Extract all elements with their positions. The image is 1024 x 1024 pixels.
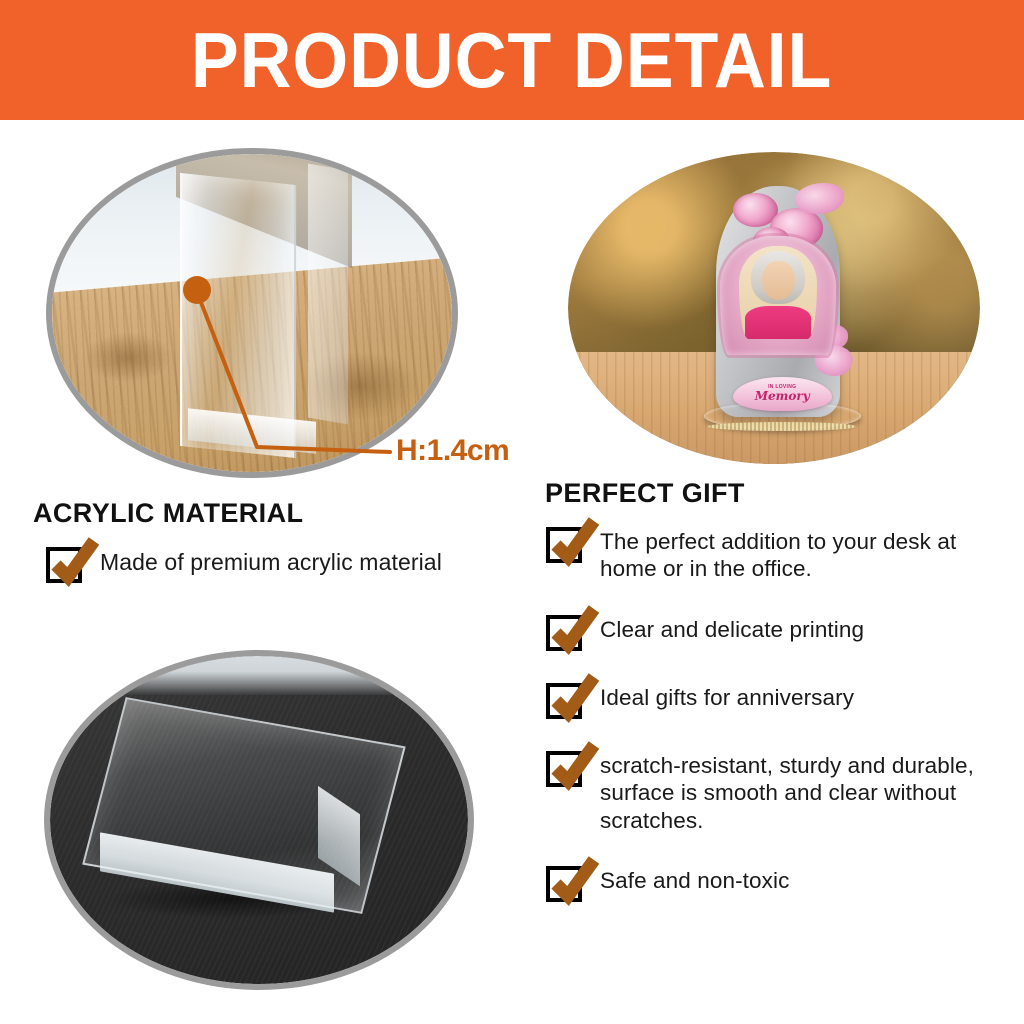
- acrylic-edge-photo-inner: [52, 154, 452, 472]
- portrait-shirt: [745, 306, 811, 340]
- list-item-label: Made of premium acrylic material: [100, 545, 442, 576]
- section-heading-acrylic-material: ACRYLIC MATERIAL: [33, 498, 303, 529]
- checkmark-icon: [548, 605, 600, 657]
- acrylic-side-face: [308, 163, 348, 424]
- portrait-face: [762, 261, 795, 300]
- product-photo: IN LOVING Memory: [568, 152, 980, 464]
- list-item-label: scratch-resistant, sturdy and durable, s…: [600, 749, 1006, 834]
- acrylic-slab-photo-inner: [50, 656, 468, 984]
- list-item-label: Safe and non-toxic: [600, 864, 789, 894]
- acrylic-edge-photo: [46, 148, 458, 478]
- checkmark-icon: [548, 673, 600, 725]
- list-item: The perfect addition to your desk at hom…: [546, 525, 1006, 583]
- perfect-gift-feature-list: The perfect addition to your desk at hom…: [546, 525, 1006, 932]
- checkmark-icon: [548, 856, 600, 908]
- checkbox-checked-icon: [546, 866, 582, 902]
- list-item: Made of premium acrylic material: [46, 545, 506, 583]
- memory-plaque: IN LOVING Memory: [733, 377, 832, 411]
- checkmark-icon: [48, 537, 100, 589]
- wood-grain-knot: [84, 332, 172, 383]
- checkbox-checked-icon: [546, 751, 582, 787]
- product-photo-inner: IN LOVING Memory: [568, 152, 980, 464]
- plaque-line-2: Memory: [755, 390, 810, 402]
- page-title: PRODUCT DETAIL: [191, 21, 832, 99]
- checkbox-checked-icon: [546, 615, 582, 651]
- list-item-label: Clear and delicate printing: [600, 613, 864, 643]
- header-banner: PRODUCT DETAIL: [0, 0, 1024, 120]
- list-item-label: The perfect addition to your desk at hom…: [600, 525, 1006, 583]
- checkbox-checked-icon: [546, 683, 582, 719]
- list-item: Ideal gifts for anniversary: [546, 681, 1006, 719]
- checkmark-icon: [548, 741, 600, 793]
- list-item-label: Ideal gifts for anniversary: [600, 681, 854, 711]
- checkmark-icon: [548, 517, 600, 569]
- list-item: scratch-resistant, sturdy and durable, s…: [546, 749, 1006, 834]
- section-heading-perfect-gift: PERFECT GIFT: [545, 478, 745, 509]
- acrylic-slab-photo: [44, 650, 474, 990]
- acrylic-material-feature-list: Made of premium acrylic material: [46, 545, 506, 607]
- portrait-photo: [739, 246, 817, 340]
- slate-edge: [50, 656, 468, 695]
- checkbox-checked-icon: [546, 527, 582, 563]
- height-label: H:1.4cm: [396, 434, 509, 468]
- list-item: Clear and delicate printing: [546, 613, 1006, 651]
- list-item: Safe and non-toxic: [546, 864, 1006, 902]
- checkbox-checked-icon: [46, 547, 82, 583]
